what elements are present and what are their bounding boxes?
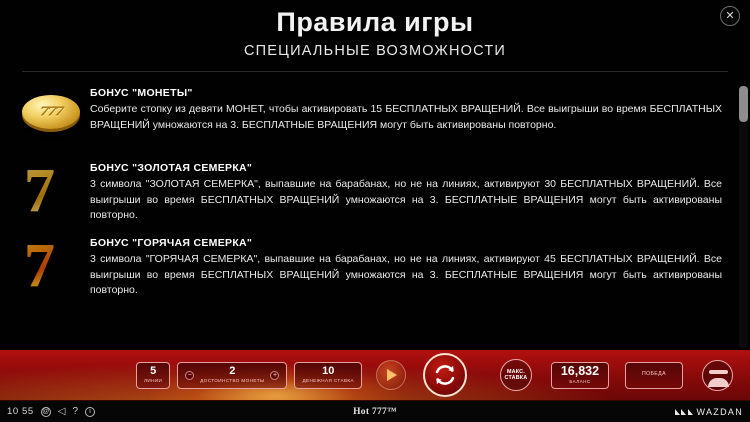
- game-screen: Правила игры СПЕЦИАЛЬНЫЕ ВОЗМОЖНОСТИ ✕ 7…: [0, 0, 750, 422]
- header-divider: [22, 71, 728, 72]
- menu-dome-icon: [708, 378, 729, 387]
- feature-description: 3 символа "ГОРЯЧАЯ СЕМЕРКА", выпавшие на…: [90, 252, 726, 299]
- coin-value-stack: 2 ДОСТОИНСТВО МОНЕТЫ: [200, 366, 264, 384]
- autoplay-button[interactable]: [376, 360, 406, 390]
- play-icon: [387, 369, 397, 381]
- balance-stack: 16,832 БАЛАНС: [561, 365, 599, 384]
- menu-button[interactable]: [702, 360, 733, 391]
- feature-body: БОНУС "ГОРЯЧАЯ СЕМЕРКА" 3 символа "ГОРЯЧ…: [90, 233, 726, 299]
- balance-value: 16,832: [561, 365, 599, 378]
- list-item: 7 БОНУС "ГОРЯЧАЯ СЕМЕРКА" 3 символа "ГОР…: [14, 233, 726, 299]
- provider-name: WAZDAN: [697, 407, 743, 417]
- seven-glyph: 7: [24, 233, 55, 299]
- cash-bet-value: 10: [302, 366, 353, 377]
- provider-logo: WAZDAN: [675, 407, 743, 417]
- list-item: 777 БОНУС "МОНЕТЫ" Соберите стопку из де…: [14, 83, 726, 149]
- scrollbar[interactable]: [739, 86, 748, 348]
- minus-icon[interactable]: −: [185, 371, 194, 380]
- gold-coin-777-icon: 777: [14, 83, 90, 149]
- coin-value-label: ДОСТОИНСТВО МОНЕТЫ: [200, 379, 264, 384]
- game-title: Hot 777™: [0, 407, 750, 417]
- feature-body: БОНУС "МОНЕТЫ" Соберите стопку из девяти…: [90, 83, 726, 133]
- menu-bar-icon: [709, 370, 728, 374]
- close-icon[interactable]: ✕: [720, 6, 740, 26]
- scrollbar-thumb[interactable]: [739, 86, 748, 122]
- feature-title: БОНУС "ГОРЯЧАЯ СЕМЕРКА": [90, 237, 726, 249]
- balance-display: 16,832 БАЛАНС: [551, 362, 609, 389]
- coin-value: 2: [200, 366, 264, 377]
- cash-bet-stack: 10 ДЕНЕЖНАЯ СТАВКА: [302, 366, 353, 384]
- coin-value-stepper[interactable]: − 2 ДОСТОИНСТВО МОНЕТЫ +: [177, 362, 287, 389]
- lines-button[interactable]: 5 ЛИНИИ: [136, 362, 170, 389]
- page-subtitle: СПЕЦИАЛЬНЫЕ ВОЗМОЖНОСТИ: [0, 42, 750, 60]
- cash-bet-label: ДЕНЕЖНАЯ СТАВКА: [302, 379, 353, 384]
- rules-header: Правила игры СПЕЦИАЛЬНЫЕ ВОЗМОЖНОСТИ ✕: [0, 0, 750, 72]
- status-bar: 10 55 @ ◁ ? i Hot 777™ WAZDAN: [0, 400, 750, 422]
- feature-description: Соберите стопку из девяти МОНЕТ, чтобы а…: [90, 102, 726, 133]
- win-display: ПОБЕДА: [625, 362, 683, 389]
- win-stack: ПОБЕДА: [642, 372, 666, 377]
- win-label: ПОБЕДА: [642, 372, 666, 377]
- coin-face: 777: [22, 95, 80, 129]
- max-bet-button[interactable]: МАКС. СТАВКА: [500, 359, 532, 391]
- seven-glyph: 7: [24, 158, 55, 224]
- lines-label: ЛИНИИ: [144, 379, 162, 384]
- wazdan-chevron-icon: [675, 409, 693, 415]
- balance-label: БАЛАНС: [561, 380, 599, 385]
- game-control-bar: 5 ЛИНИИ − 2 ДОСТОИНСТВО МОНЕТЫ + 10 ДЕНЕ…: [0, 350, 750, 400]
- page-title: Правила игры: [0, 6, 750, 38]
- cash-bet-button[interactable]: 10 ДЕНЕЖНАЯ СТАВКА: [294, 362, 361, 389]
- lines-value: 5: [144, 366, 162, 377]
- spin-icon: [431, 361, 459, 389]
- feature-title: БОНУС "ЗОЛОТАЯ СЕМЕРКА": [90, 162, 726, 174]
- spin-button[interactable]: [423, 353, 467, 397]
- control-bar-inner: 5 ЛИНИИ − 2 ДОСТОИНСТВО МОНЕТЫ + 10 ДЕНЕ…: [0, 350, 750, 400]
- feature-description: 3 символа "ЗОЛОТАЯ СЕМЕРКА", выпавшие на…: [90, 177, 726, 224]
- lines-stack: 5 ЛИНИИ: [144, 366, 162, 384]
- max-bet-line2: СТАВКА: [505, 375, 528, 381]
- feature-body: БОНУС "ЗОЛОТАЯ СЕМЕРКА" 3 символа "ЗОЛОТ…: [90, 158, 726, 224]
- plus-icon[interactable]: +: [270, 371, 279, 380]
- feature-list: 777 БОНУС "МОНЕТЫ" Соберите стопку из де…: [0, 83, 750, 299]
- game-rules-overlay: Правила игры СПЕЦИАЛЬНЫЕ ВОЗМОЖНОСТИ ✕ 7…: [0, 0, 750, 400]
- hot-seven-icon: 7: [14, 233, 90, 299]
- list-item: 7 БОНУС "ЗОЛОТАЯ СЕМЕРКА" 3 символа "ЗОЛ…: [14, 158, 726, 224]
- feature-title: БОНУС "МОНЕТЫ": [90, 87, 726, 99]
- coin-777-glyph: 777: [40, 104, 63, 120]
- golden-seven-icon: 7: [14, 158, 90, 224]
